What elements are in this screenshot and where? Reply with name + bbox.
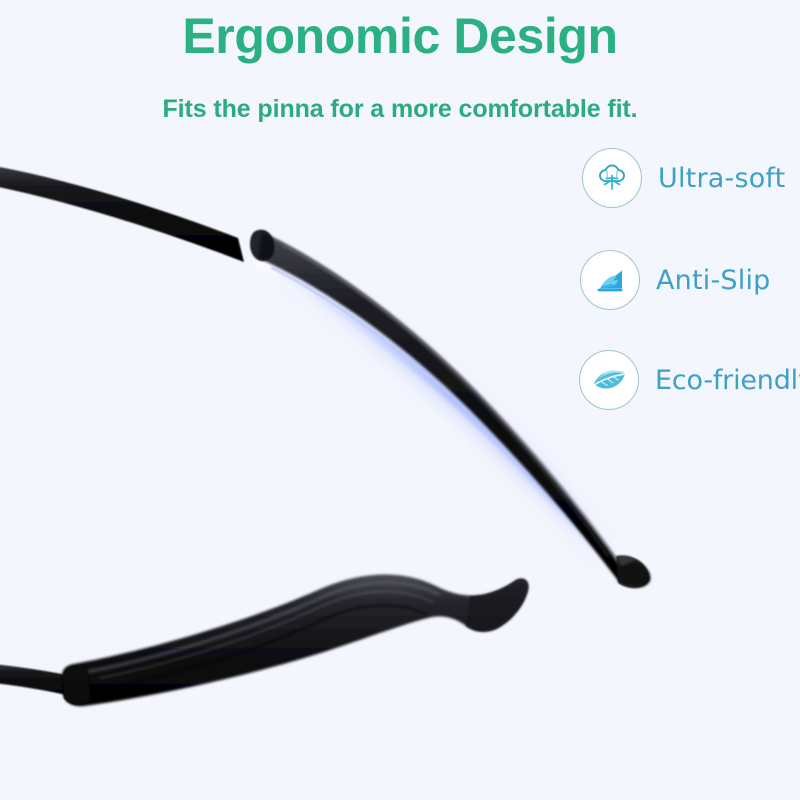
page-title: Ergonomic Design xyxy=(0,8,800,64)
cotton-boll-icon xyxy=(582,148,642,208)
feature-badge-eco-friendly: Eco-friendly xyxy=(579,350,800,410)
feature-label: Anti-Slip xyxy=(656,265,771,296)
product-feature-image: Ergonomic Design Fits the pinna for a mo… xyxy=(0,0,800,800)
blue-glow-arc xyxy=(262,262,622,580)
feature-badge-ultra-soft: Ultra-soft xyxy=(582,148,785,208)
feature-label: Ultra-soft xyxy=(658,163,785,194)
upper-temple-arm xyxy=(0,166,650,588)
shoe-on-ramp-icon xyxy=(580,250,640,310)
leaf-icon xyxy=(579,350,639,410)
feature-badge-anti-slip: Anti-Slip xyxy=(580,250,771,310)
lower-temple-arm xyxy=(0,574,528,706)
feature-label: Eco-friendly xyxy=(655,365,800,396)
page-subtitle: Fits the pinna for a more comfortable fi… xyxy=(0,94,800,124)
